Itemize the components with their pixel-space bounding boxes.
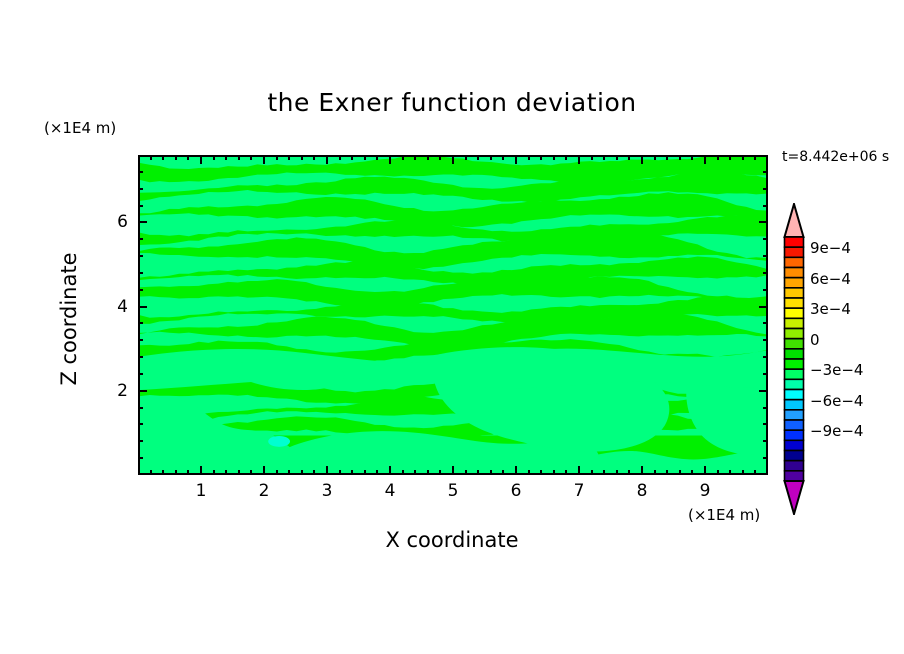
x-minor-tick: [301, 470, 303, 475]
x-tick-mark: [389, 466, 391, 475]
colorbar-swatch: [785, 247, 804, 257]
x-minor-tick: [679, 155, 681, 160]
timestamp-label: t=8.442e+06 s: [782, 149, 889, 165]
colorbar-label: −9e−4: [810, 422, 863, 440]
x-minor-tick: [376, 470, 378, 475]
colorbar-swatch: [785, 390, 804, 400]
colorbar-swatch: [785, 268, 804, 278]
x-tick-mark-top: [641, 155, 643, 164]
x-minor-tick: [553, 155, 555, 160]
x-tick-mark-top: [263, 155, 265, 164]
y-minor-tick: [763, 205, 768, 207]
x-tick-mark-top: [389, 155, 391, 164]
x-tick-label: 4: [385, 481, 396, 501]
colorbar-swatch: [785, 349, 804, 359]
x-minor-tick: [616, 470, 618, 475]
y-minor-tick: [138, 205, 143, 207]
x-minor-tick: [238, 155, 240, 160]
x-minor-tick: [565, 470, 567, 475]
x-minor-tick: [628, 470, 630, 475]
x-tick-mark: [578, 466, 580, 475]
y-minor-tick: [763, 423, 768, 425]
figure-canvas: the Exner function deviation (×1E4 m) (×…: [0, 0, 904, 654]
y-minor-tick: [763, 373, 768, 375]
y-minor-tick: [763, 289, 768, 291]
x-minor-tick: [439, 470, 441, 475]
x-minor-tick: [666, 155, 668, 160]
y-tick-label: 4: [100, 297, 128, 317]
x-axis-unit-label: (×1E4 m): [688, 506, 760, 524]
x-minor-tick: [376, 155, 378, 160]
colorbar-label: −6e−4: [810, 392, 863, 410]
colorbar-swatch: [785, 257, 804, 267]
colorbar-swatch: [785, 379, 804, 389]
x-tick-mark-top: [704, 155, 706, 164]
x-minor-tick: [364, 470, 366, 475]
y-minor-tick: [763, 188, 768, 190]
x-tick-mark-top: [578, 155, 580, 164]
colorbar-label: 6e−4: [810, 270, 851, 288]
x-minor-tick: [591, 470, 593, 475]
x-minor-tick: [490, 155, 492, 160]
x-minor-tick: [364, 155, 366, 160]
x-tick-mark-top: [515, 155, 517, 164]
y-minor-tick: [763, 171, 768, 173]
x-tick-mark: [452, 466, 454, 475]
colorbar-swatch: [785, 318, 804, 328]
x-minor-tick: [175, 470, 177, 475]
x-minor-tick: [351, 155, 353, 160]
y-minor-tick: [138, 423, 143, 425]
x-tick-mark-top: [200, 155, 202, 164]
page-title: the Exner function deviation: [0, 88, 904, 117]
colorbar-under-arrow: [785, 481, 804, 514]
x-minor-tick: [339, 155, 341, 160]
x-minor-tick: [477, 470, 479, 475]
x-minor-tick: [301, 155, 303, 160]
contour-plot-area: [138, 155, 768, 475]
x-minor-tick: [276, 155, 278, 160]
x-minor-tick: [213, 470, 215, 475]
x-axis-title: X coordinate: [0, 528, 904, 552]
y-tick-label: 2: [100, 381, 128, 401]
x-minor-tick: [565, 155, 567, 160]
x-minor-tick: [679, 470, 681, 475]
contour-negative-spot: [268, 436, 290, 447]
colorbar-tick-labels: 9e−46e−43e−40−3e−4−6e−4−9e−4: [810, 203, 900, 515]
colorbar[interactable]: [782, 203, 806, 515]
x-minor-tick: [414, 470, 416, 475]
colorbar-swatch: [785, 471, 804, 481]
y-minor-tick: [763, 238, 768, 240]
x-minor-tick: [616, 155, 618, 160]
y-tick-mark: [138, 221, 147, 223]
colorbar-swatch: [785, 288, 804, 298]
y-tick-mark-right: [759, 221, 768, 223]
x-minor-tick: [528, 470, 530, 475]
x-minor-tick: [754, 470, 756, 475]
x-minor-tick: [465, 155, 467, 160]
x-minor-tick: [553, 470, 555, 475]
x-minor-tick: [691, 470, 693, 475]
colorbar-swatch: [785, 329, 804, 339]
x-tick-mark: [263, 466, 265, 475]
x-tick-label: 9: [700, 481, 711, 501]
x-minor-tick: [540, 155, 542, 160]
colorbar-over-arrow: [785, 204, 804, 237]
x-minor-tick: [339, 470, 341, 475]
x-tick-mark: [515, 466, 517, 475]
x-minor-tick: [502, 155, 504, 160]
colorbar-swatch: [785, 298, 804, 308]
y-tick-mark-right: [759, 390, 768, 392]
colorbar-swatch: [785, 440, 804, 450]
x-minor-tick: [540, 470, 542, 475]
x-minor-tick: [162, 155, 164, 160]
colorbar-swatch: [785, 369, 804, 379]
x-minor-tick: [439, 155, 441, 160]
colorbar-label: 9e−4: [810, 239, 851, 257]
colorbar-swatch: [785, 400, 804, 410]
x-minor-tick: [628, 155, 630, 160]
x-minor-tick: [603, 470, 605, 475]
x-minor-tick: [729, 470, 731, 475]
y-minor-tick: [763, 356, 768, 358]
x-tick-label: 8: [637, 481, 648, 501]
x-tick-mark-top: [326, 155, 328, 164]
x-tick-label: 7: [574, 481, 585, 501]
y-minor-tick: [138, 272, 143, 274]
x-tick-mark: [326, 466, 328, 475]
x-tick-label: 1: [196, 481, 207, 501]
x-minor-tick: [477, 155, 479, 160]
x-minor-tick: [502, 470, 504, 475]
x-minor-tick: [175, 155, 177, 160]
y-tick-mark: [138, 306, 147, 308]
x-minor-tick: [528, 155, 530, 160]
colorbar-swatch: [785, 359, 804, 369]
x-minor-tick: [591, 155, 593, 160]
y-minor-tick: [763, 272, 768, 274]
y-minor-tick: [138, 238, 143, 240]
x-minor-tick: [427, 470, 429, 475]
x-minor-tick: [250, 155, 252, 160]
x-minor-tick: [150, 155, 152, 160]
colorbar-swatch: [785, 430, 804, 440]
y-axis-title: Z coordinate: [57, 229, 81, 409]
x-minor-tick: [742, 155, 744, 160]
x-minor-tick: [250, 470, 252, 475]
colorbar-swatch: [785, 278, 804, 288]
colorbar-swatches: [782, 203, 806, 515]
x-minor-tick: [742, 470, 744, 475]
colorbar-swatch: [785, 420, 804, 430]
x-minor-tick: [717, 155, 719, 160]
y-minor-tick: [763, 457, 768, 459]
x-minor-tick: [666, 470, 668, 475]
y-minor-tick: [138, 322, 143, 324]
x-minor-tick: [427, 155, 429, 160]
x-minor-tick: [691, 155, 693, 160]
x-minor-tick: [187, 470, 189, 475]
colorbar-label: 3e−4: [810, 300, 851, 318]
y-minor-tick: [138, 289, 143, 291]
y-minor-tick: [763, 440, 768, 442]
y-minor-tick: [763, 339, 768, 341]
y-axis-unit-label: (×1E4 m): [44, 119, 116, 137]
x-minor-tick: [213, 155, 215, 160]
colorbar-swatch: [785, 308, 804, 318]
contour-field: [140, 157, 766, 473]
x-minor-tick: [717, 470, 719, 475]
x-minor-tick: [465, 470, 467, 475]
x-tick-mark: [641, 466, 643, 475]
y-tick-label: 6: [100, 212, 128, 232]
colorbar-label: −3e−4: [810, 361, 863, 379]
y-minor-tick: [138, 457, 143, 459]
x-minor-tick: [225, 470, 227, 475]
y-minor-tick: [138, 255, 143, 257]
x-tick-mark: [704, 466, 706, 475]
colorbar-swatch: [785, 237, 804, 247]
x-tick-label: 3: [322, 481, 333, 501]
x-minor-tick: [414, 155, 416, 160]
x-minor-tick: [490, 470, 492, 475]
y-tick-mark-right: [759, 306, 768, 308]
y-minor-tick: [138, 171, 143, 173]
y-tick-mark: [138, 390, 147, 392]
colorbar-swatch: [785, 410, 804, 420]
colorbar-swatch: [785, 339, 804, 349]
x-minor-tick: [187, 155, 189, 160]
y-minor-tick: [138, 440, 143, 442]
colorbar-swatch: [785, 461, 804, 471]
x-tick-label: 5: [448, 481, 459, 501]
y-minor-tick: [138, 407, 143, 409]
y-minor-tick: [138, 339, 143, 341]
x-minor-tick: [729, 155, 731, 160]
x-tick-mark: [200, 466, 202, 475]
x-tick-mark-top: [452, 155, 454, 164]
x-minor-tick: [238, 470, 240, 475]
x-tick-label: 6: [511, 481, 522, 501]
x-minor-tick: [225, 155, 227, 160]
y-minor-tick: [763, 322, 768, 324]
x-minor-tick: [162, 470, 164, 475]
x-minor-tick: [313, 470, 315, 475]
x-minor-tick: [276, 470, 278, 475]
x-minor-tick: [150, 470, 152, 475]
y-minor-tick: [763, 255, 768, 257]
x-minor-tick: [754, 155, 756, 160]
y-minor-tick: [138, 373, 143, 375]
y-minor-tick: [763, 407, 768, 409]
x-minor-tick: [603, 155, 605, 160]
x-minor-tick: [402, 155, 404, 160]
x-minor-tick: [288, 470, 290, 475]
x-minor-tick: [313, 155, 315, 160]
x-minor-tick: [288, 155, 290, 160]
x-minor-tick: [654, 470, 656, 475]
colorbar-label: 0: [810, 331, 820, 349]
x-minor-tick: [351, 470, 353, 475]
x-minor-tick: [402, 470, 404, 475]
x-tick-label: 2: [259, 481, 270, 501]
y-minor-tick: [138, 188, 143, 190]
colorbar-swatch: [785, 451, 804, 461]
x-minor-tick: [654, 155, 656, 160]
y-minor-tick: [138, 356, 143, 358]
